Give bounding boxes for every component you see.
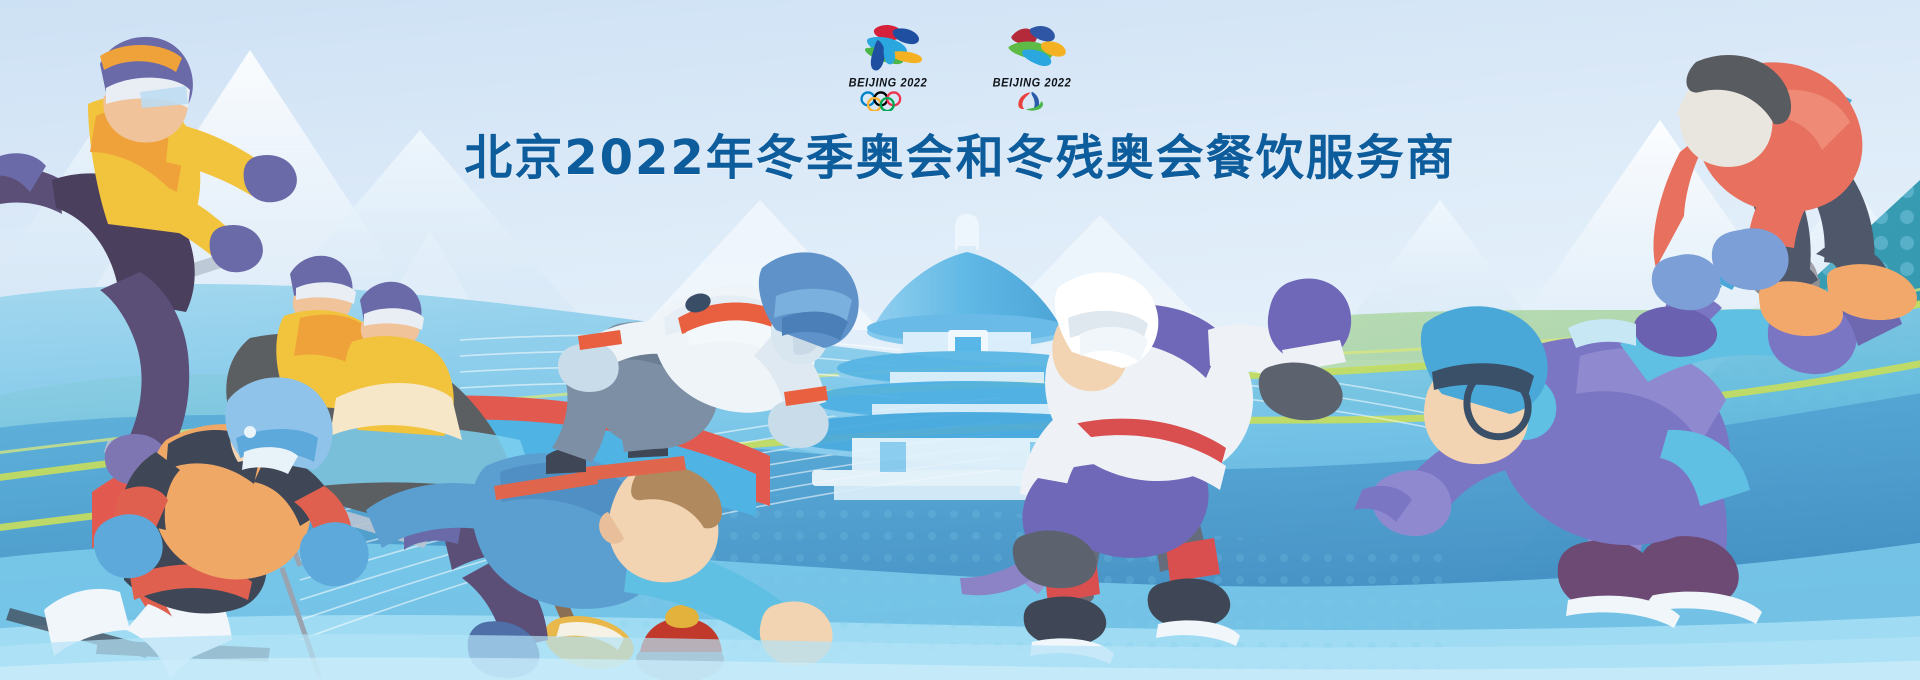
- agitos: [1002, 91, 1062, 111]
- olympics-catering-banner: BEIJING 2022 BEIJING 2022: [0, 0, 1920, 680]
- olympic-wordmark: BEIJING 2022: [849, 76, 928, 89]
- page-title: 北京2022年冬季奥会和冬残奥会餐饮服务商: [0, 118, 1920, 188]
- paralympic-emblem: BEIJING 2022: [982, 22, 1082, 111]
- paralympic-emblem-mark: [992, 22, 1072, 74]
- olympic-emblem: BEIJING 2022: [838, 22, 938, 111]
- paralympic-wordmark: BEIJING 2022: [993, 76, 1072, 89]
- olympic-rings: [848, 91, 928, 111]
- olympic-emblem-mark: [848, 22, 928, 74]
- emblem-row: BEIJING 2022 BEIJING 2022: [0, 22, 1920, 111]
